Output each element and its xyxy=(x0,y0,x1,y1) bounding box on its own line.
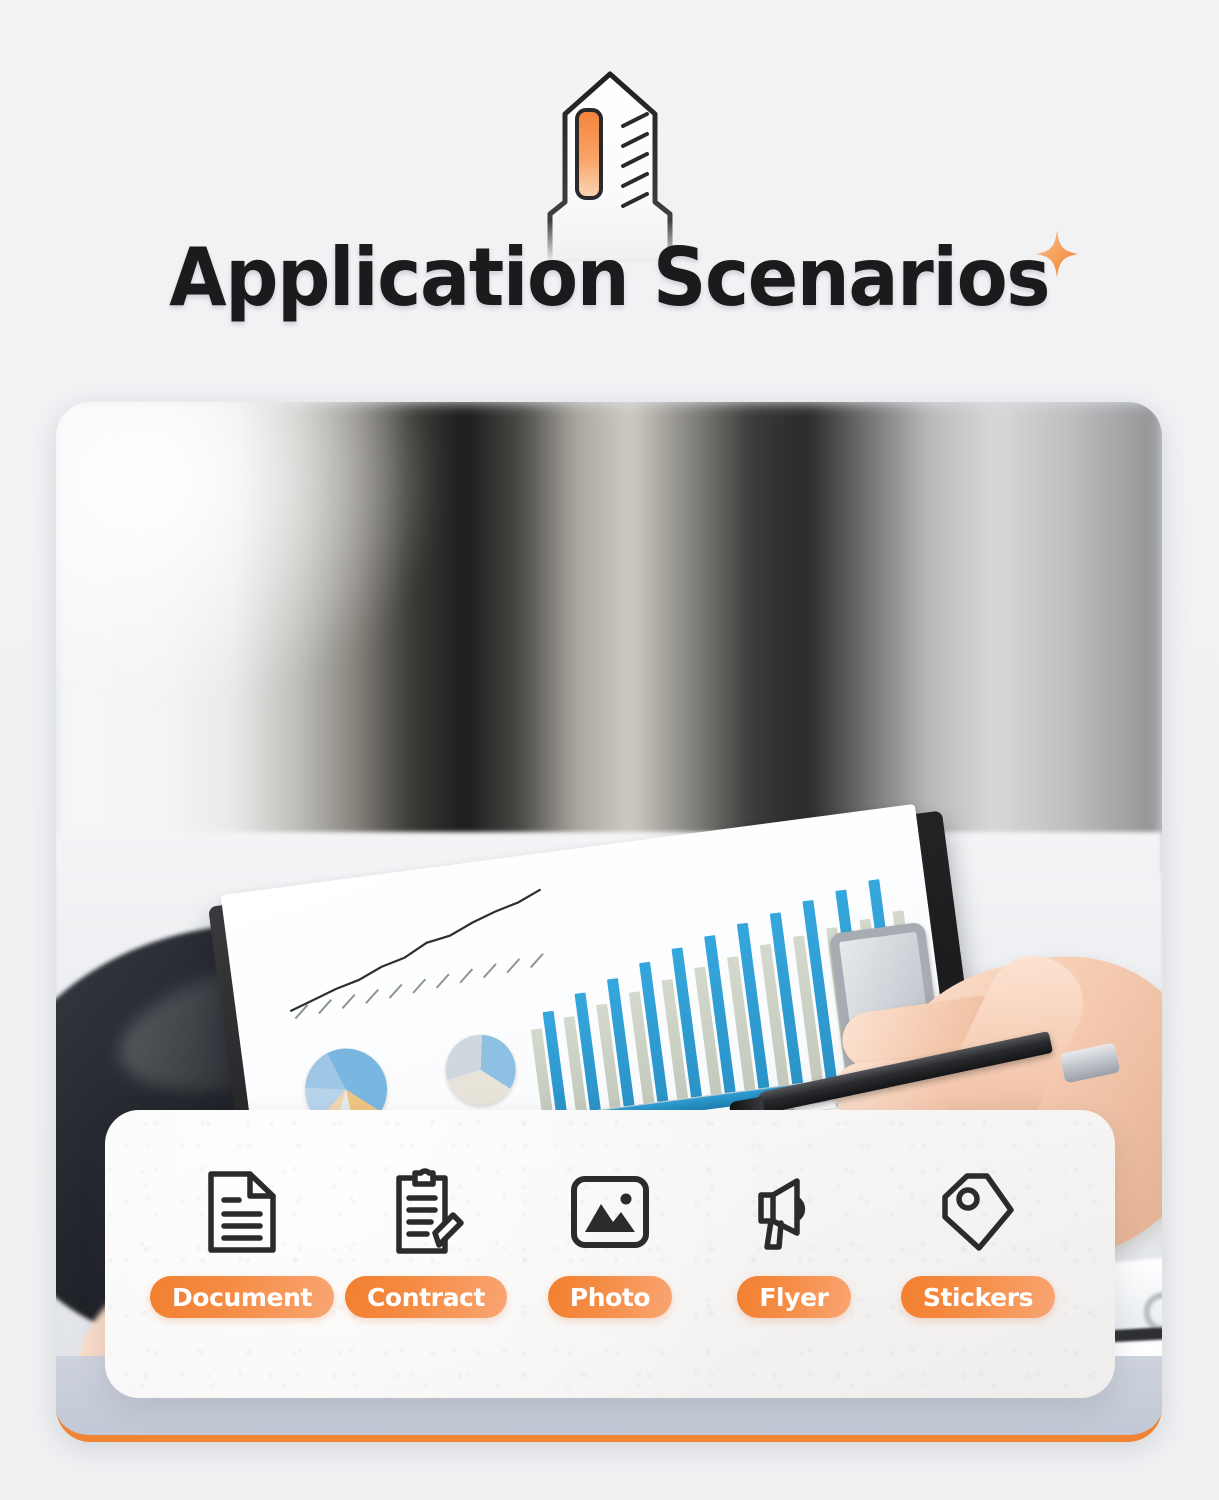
feature-label-contract[interactable]: Contract xyxy=(345,1276,507,1318)
feature-label-stickers[interactable]: Stickers xyxy=(901,1276,1055,1318)
page-title-text: Application Scenarios xyxy=(169,232,1049,324)
feature-label-document[interactable]: Document xyxy=(150,1276,334,1318)
pie-chart xyxy=(441,1031,520,1110)
page-header: Application Scenarios xyxy=(0,0,1219,390)
window-light-glow xyxy=(56,402,446,712)
stickers-icon xyxy=(937,1168,1019,1256)
feature-item-document[interactable]: Document xyxy=(150,1168,334,1318)
feature-label-flyer[interactable]: Flyer xyxy=(737,1276,850,1318)
feature-label-photo[interactable]: Photo xyxy=(548,1276,672,1318)
application-scenarios-page: Application Scenarios xyxy=(0,0,1219,1500)
feature-item-contract[interactable]: Contract xyxy=(334,1168,518,1318)
sparkle-icon xyxy=(1034,228,1080,280)
feature-item-photo[interactable]: Photo xyxy=(518,1168,702,1318)
contract-icon xyxy=(387,1168,465,1256)
feature-card: Document Contract xyxy=(105,1110,1115,1398)
feature-item-flyer[interactable]: Flyer xyxy=(702,1168,886,1318)
feature-list: Document Contract xyxy=(105,1168,1115,1318)
flyer-icon xyxy=(751,1168,837,1256)
document-icon xyxy=(205,1168,279,1256)
photo-icon xyxy=(569,1168,651,1256)
feature-item-stickers[interactable]: Stickers xyxy=(886,1168,1070,1318)
